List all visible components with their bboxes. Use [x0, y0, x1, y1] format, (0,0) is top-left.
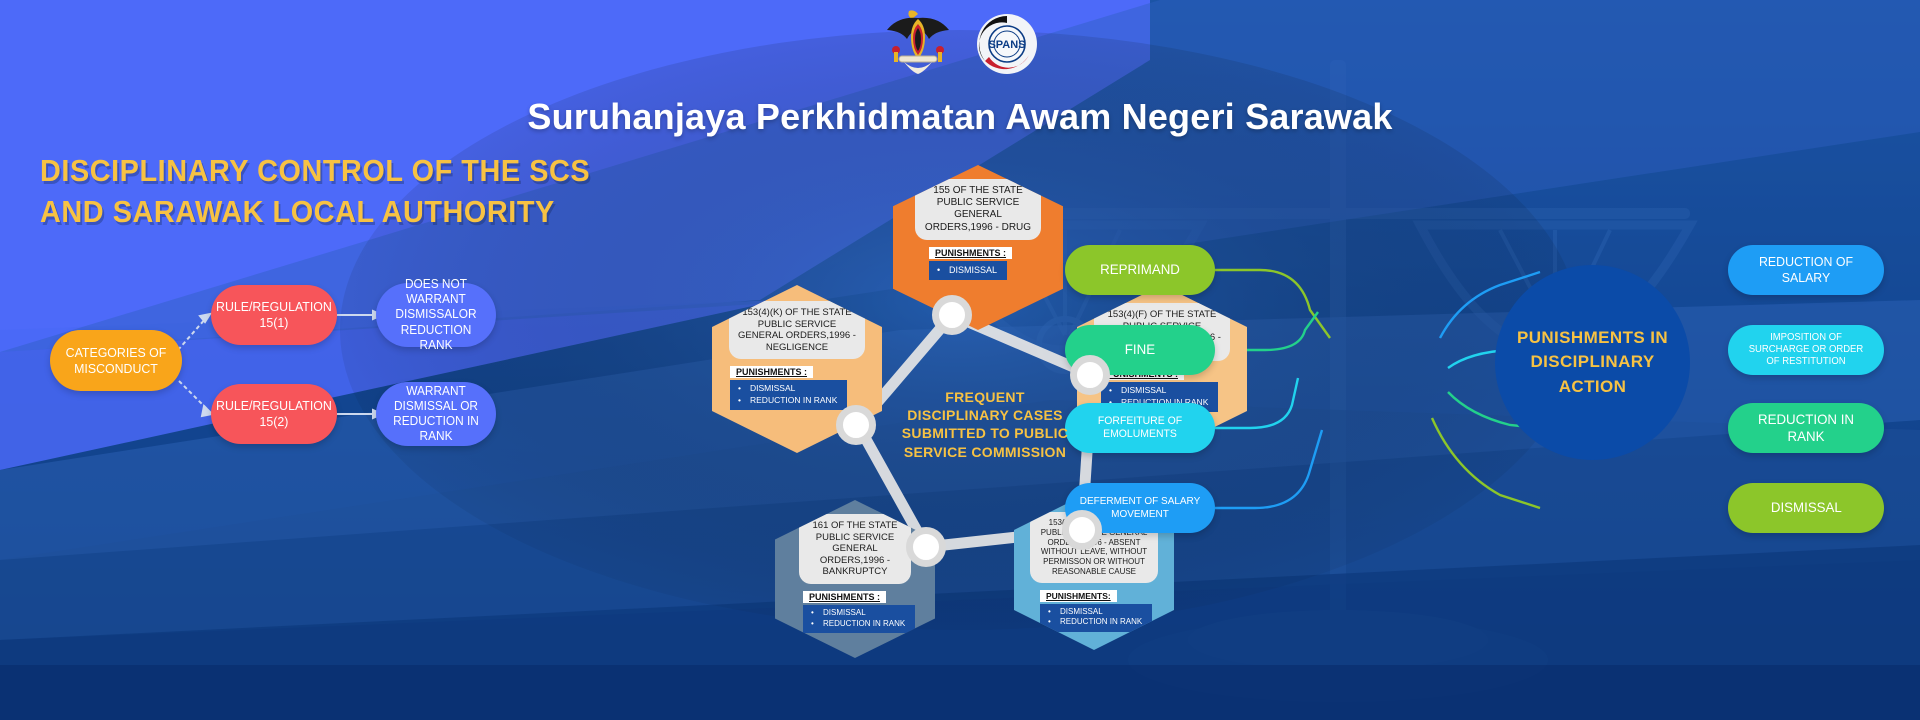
punishments-label-negligence: PUNISHMENTS : [730, 366, 813, 378]
punishments-list-negligence: DISMISSAL REDUCTION IN RANK [730, 380, 847, 410]
punishments-list-absent: DISMISSAL REDUCTION IN RANK [1040, 604, 1152, 633]
outcome-1-label: DOES NOT WARRANT DISMISSALOR REDUCTION R… [389, 277, 484, 353]
case-title-drug: 155 OF THE STATE PUBLIC SERVICE GENERAL … [915, 179, 1041, 240]
punishment-dismissal[interactable]: DISMISSAL [1728, 483, 1884, 533]
punishments-hub[interactable]: PUNISHMENTS IN DISCIPLINARY ACTION [1495, 265, 1690, 460]
punishment-reprimand[interactable]: REPRIMAND [1065, 245, 1215, 295]
header-logos: SPANS [0, 6, 1920, 82]
punishment-item: DISMISSAL [935, 264, 997, 276]
punishments-list-bankruptcy: DISMISSAL REDUCTION IN RANK [803, 605, 915, 634]
hex-node-drug [932, 295, 972, 335]
root-categories-of-misconduct[interactable]: CATEGORIES OF MISCONDUCT [50, 330, 182, 391]
punishment-dismissal-label: DISMISSAL [1771, 499, 1842, 516]
hex-node-bankruptcy [906, 527, 946, 567]
punishment-item: DISMISSAL [1107, 385, 1208, 396]
punishment-item: REDUCTION IN RANK [809, 619, 905, 630]
center-network-label: FREQUENT DISCIPLINARY CASES SUBMITTED TO… [900, 388, 1070, 461]
punishment-item: DISMISSAL [809, 608, 905, 619]
outcome-does-not-warrant[interactable]: DOES NOT WARRANT DISMISSALOR REDUCTION R… [376, 283, 496, 347]
root-label: CATEGORIES OF MISCONDUCT [63, 345, 169, 377]
punishment-item: DISMISSAL [736, 383, 837, 394]
punishments-list-drug: DISMISSAL [929, 261, 1007, 280]
punishment-reduction-in-rank[interactable]: REDUCTION IN RANK [1728, 403, 1884, 453]
spans-logo-label: SPANS [988, 39, 1025, 51]
heading-line-1: DISCIPLINARY CONTROL OF THE SCS [40, 150, 635, 191]
punishment-item: REDUCTION IN RANK [736, 395, 837, 406]
rule-2-label: RULE/REGULATION 15(2) [216, 398, 332, 430]
heading-line-2: AND SARAWAK LOCAL AUTHORITY [40, 191, 635, 232]
punishments-label-bankruptcy: PUNISHMENTS : [803, 591, 886, 603]
punishment-item: REDUCTION IN RANK [1046, 617, 1142, 628]
punishment-reduction-rank-label: REDUCTION IN RANK [1741, 411, 1870, 445]
header: SPANS Suruhanjaya Perkhidmatan Awam Nege… [0, 0, 1920, 140]
punishment-reprimand-label: REPRIMAND [1100, 261, 1180, 278]
punishment-reduction-salary-label: REDUCTION OF SALARY [1741, 254, 1870, 286]
rule-regulation-15-1[interactable]: RULE/REGULATION 15(1) [211, 285, 337, 345]
punishment-surcharge-label: IMPOSITION OF SURCHARGE OR ORDER OF REST… [1741, 332, 1870, 369]
punishments-label-absent: PUNISHMENTS: [1040, 590, 1117, 602]
punishments-hub-label: PUNISHMENTS IN DISCIPLINARY ACTION [1495, 326, 1690, 398]
hex-node-absent [1062, 510, 1102, 550]
page-title: Suruhanjaya Perkhidmatan Awam Negeri Sar… [0, 96, 1920, 138]
punishment-reduction-of-salary[interactable]: REDUCTION OF SALARY [1728, 245, 1884, 295]
rule-regulation-15-2[interactable]: RULE/REGULATION 15(2) [211, 384, 337, 444]
outcome-2-label: WARRANT DISMISSAL OR REDUCTION IN RANK [389, 384, 484, 445]
punishment-forfeiture-label: FORFEITURE OF EMOLUMENTS [1078, 415, 1202, 442]
outcome-warrant-dismissal[interactable]: WARRANT DISMISSAL OR REDUCTION IN RANK [376, 382, 496, 446]
punishment-fine-label: FINE [1125, 341, 1155, 358]
punishment-item: DISMISSAL [1046, 607, 1142, 618]
punishment-imposition-of-surcharge[interactable]: IMPOSITION OF SURCHARGE OR ORDER OF REST… [1728, 325, 1884, 375]
hex-node-negligence [836, 405, 876, 445]
case-title-bankruptcy: 161 OF THE STATE PUBLIC SERVICE GENERAL … [799, 514, 911, 584]
sarawak-coat-of-arms-icon [882, 6, 954, 82]
hex-node-dishonest [1070, 355, 1110, 395]
rule-1-label: RULE/REGULATION 15(1) [216, 299, 332, 331]
punishment-forfeiture-of-emoluments[interactable]: FORFEITURE OF EMOLUMENTS [1065, 403, 1215, 453]
punishments-label-drug: PUNISHMENTS : [929, 247, 1012, 259]
left-section-heading: DISCIPLINARY CONTROL OF THE SCS AND SARA… [40, 150, 635, 232]
case-title-negligence: 153(4)(K) OF THE STATE PUBLIC SERVICE GE… [729, 301, 865, 359]
spans-logo-icon: SPANS [976, 13, 1038, 75]
